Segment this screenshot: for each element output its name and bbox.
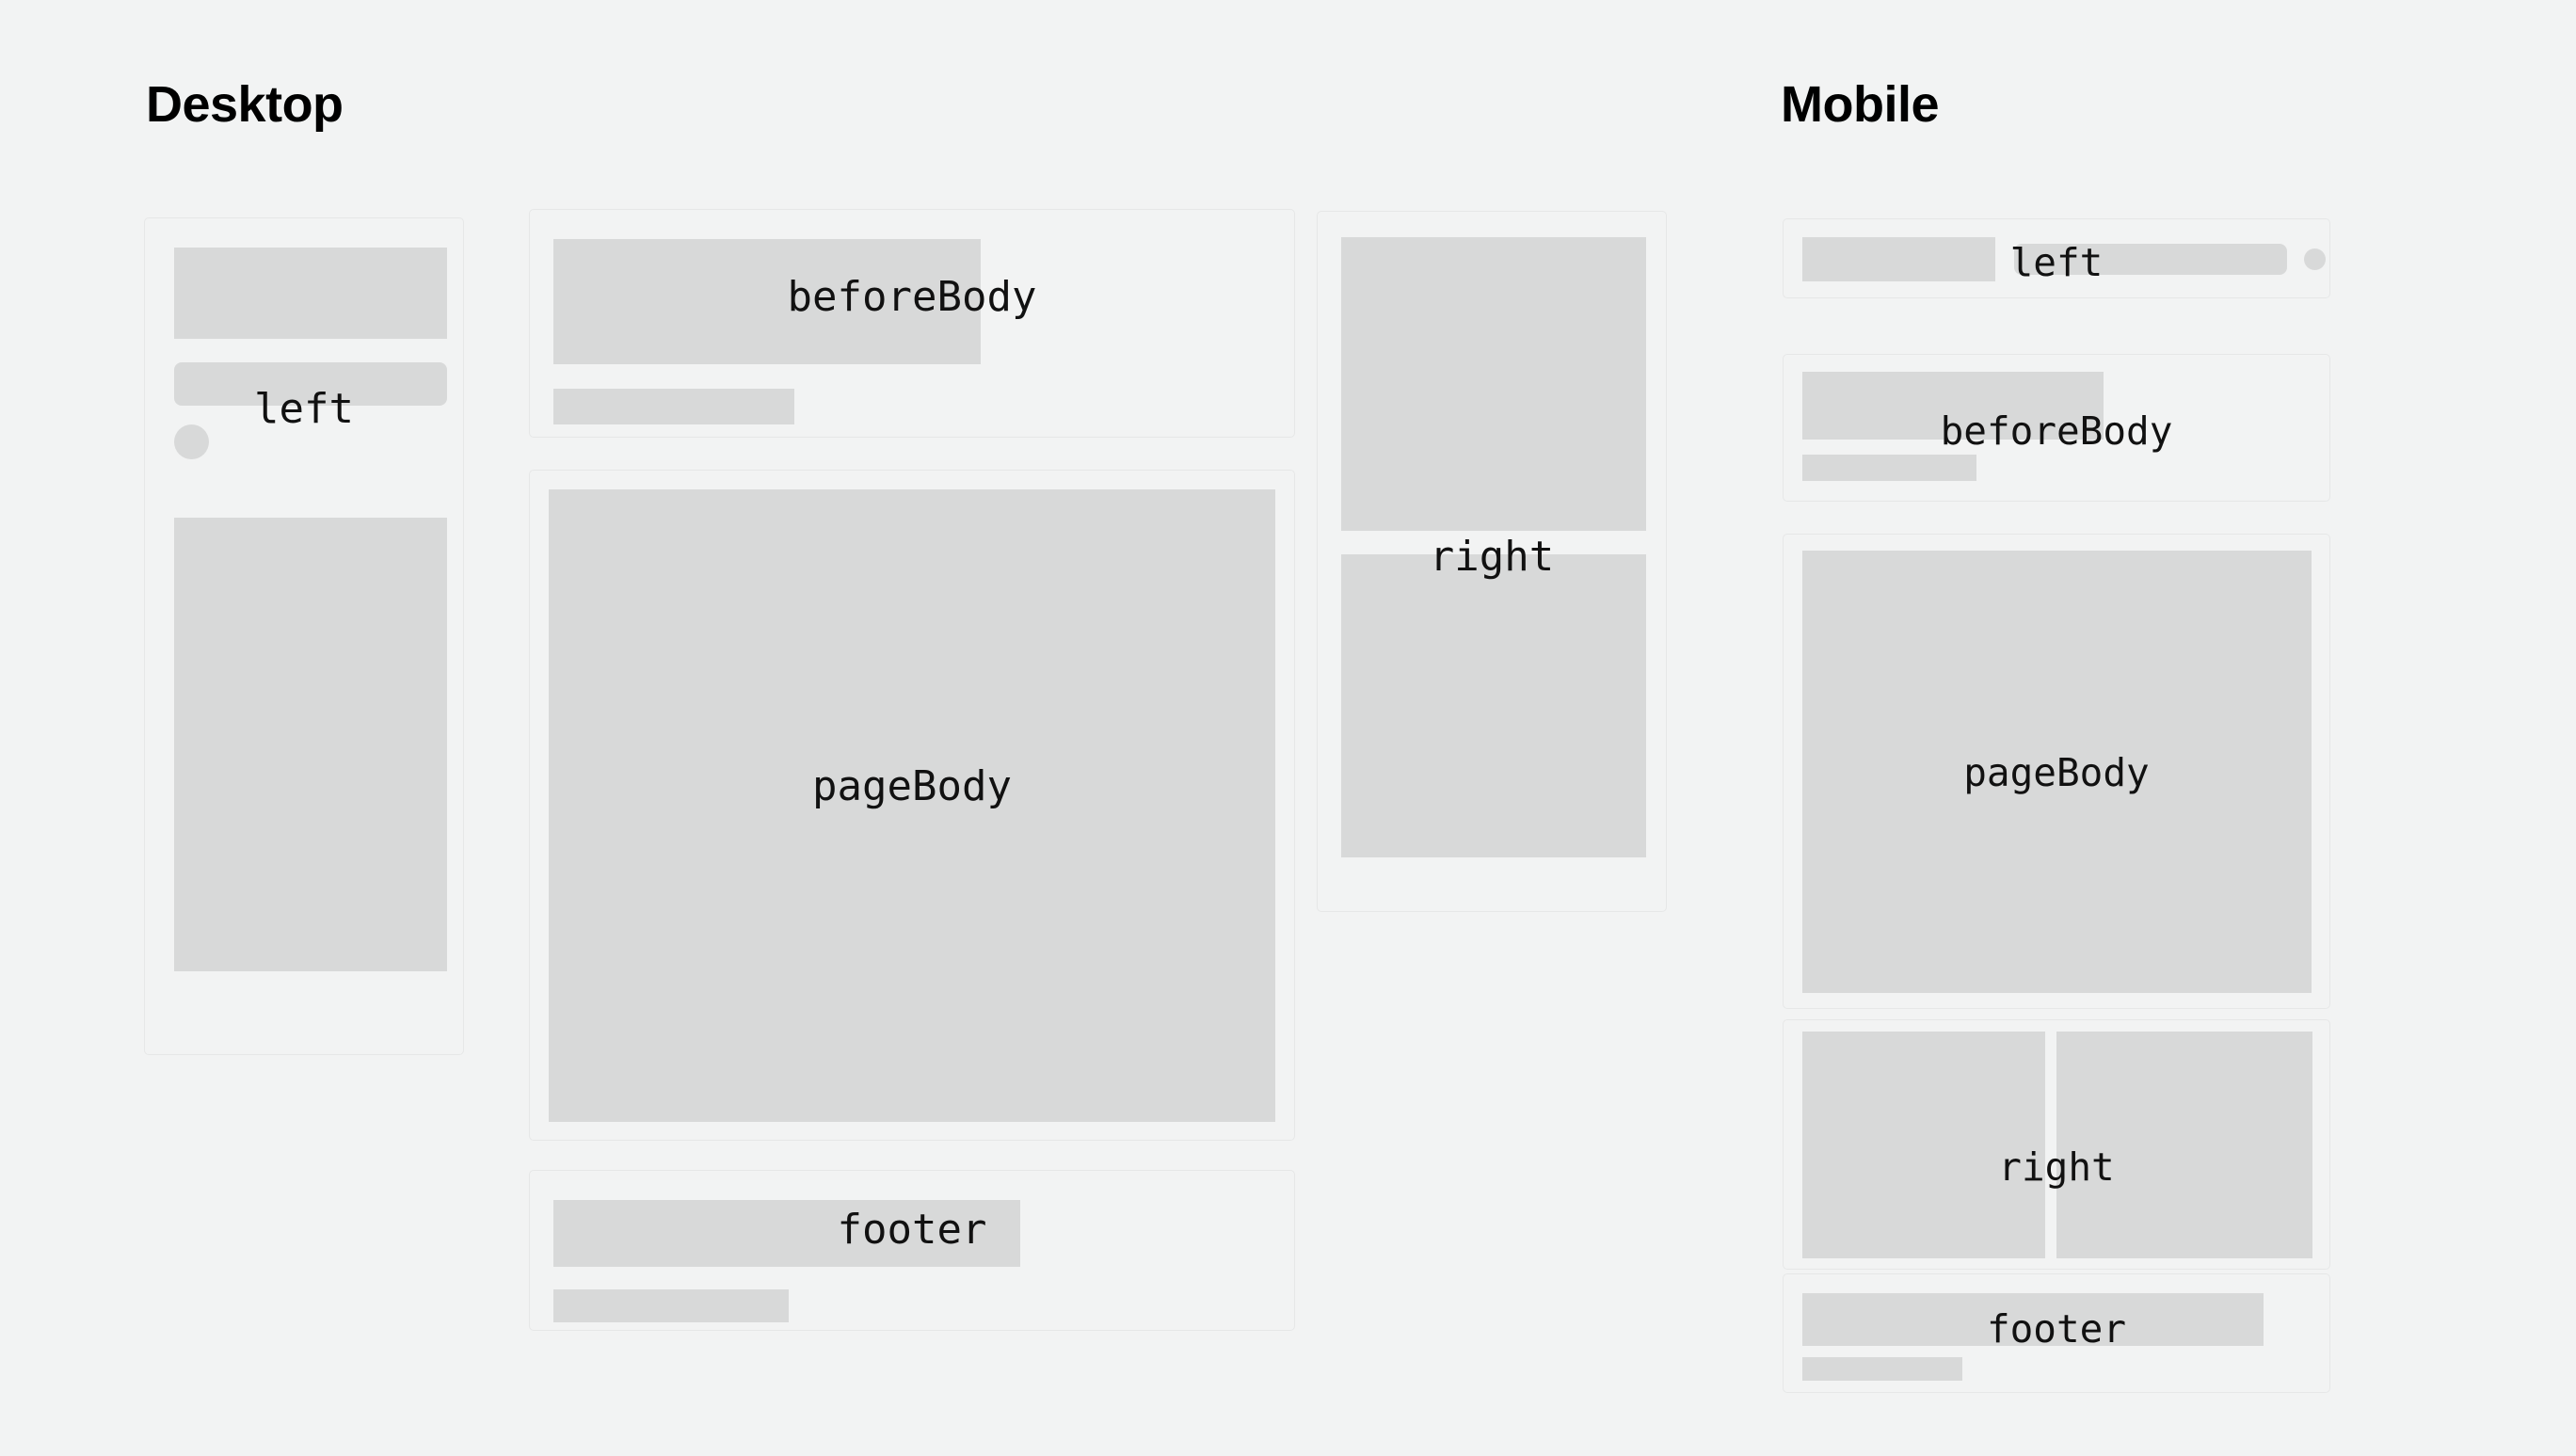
skeleton-bar [553,389,794,424]
desktop-footer-region-panel[interactable] [529,1170,1295,1331]
skeleton-block [1341,554,1646,857]
mobile-footer-region-panel[interactable] [1783,1273,2330,1393]
mobile-beforebody-region-panel[interactable] [1783,354,2330,502]
skeleton-block [549,489,1275,1122]
skeleton-block [1802,551,2312,993]
mobile-pagebody-region-panel[interactable] [1783,534,2330,1009]
skeleton-bar [1802,1357,1962,1381]
skeleton-block [1802,372,2104,440]
desktop-beforebody-region-panel[interactable] [529,209,1295,438]
mobile-right-region-panel[interactable] [1783,1019,2330,1270]
skeleton-bar [174,362,447,406]
desktop-pagebody-region-panel[interactable] [529,470,1295,1141]
skeleton-block [1802,1293,2264,1346]
skeleton-block [174,518,447,971]
skeleton-block [174,248,447,339]
skeleton-block [2056,1032,2312,1258]
mobile-left-region-panel[interactable] [1783,218,2330,298]
skeleton-block [1802,1032,2045,1258]
skeleton-block [553,1200,1020,1267]
desktop-right-region-panel[interactable] [1317,211,1667,912]
skeleton-bar [1802,455,1976,481]
mobile-column-title: Mobile [1781,79,1939,130]
desktop-column-title: Desktop [146,79,344,130]
skeleton-block [1341,237,1646,531]
skeleton-avatar-circle [2304,248,2326,270]
desktop-left-region-panel[interactable] [144,217,464,1055]
skeleton-bar [553,1289,789,1322]
skeleton-block [1802,237,1995,281]
skeleton-bar [2014,244,2287,275]
skeleton-avatar-circle [174,424,209,459]
skeleton-block [553,239,981,364]
